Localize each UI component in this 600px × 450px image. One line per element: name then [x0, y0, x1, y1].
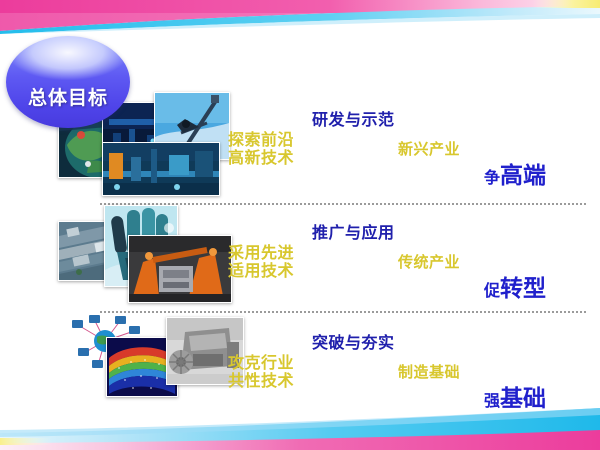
industrial-platform-photo-graphic — [103, 143, 219, 195]
goal-label-pair-row-2: 攻克行业 共性技术 — [228, 355, 294, 391]
overall-goal-badge-label: 总体目标 — [28, 83, 108, 128]
goal-label-line2: 适用技术 — [228, 263, 294, 281]
slide-canvas: 总体目标 — [0, 0, 600, 450]
top-banner-graphic — [0, 0, 600, 34]
overall-goal-badge[interactable]: 总体目标 — [6, 36, 130, 128]
top-banner — [0, 0, 600, 34]
headline-main-row-1: 转型 — [500, 275, 546, 301]
goal-label-pair-row-0: 探索前沿 高新技术 — [228, 132, 294, 168]
headline-row-0: 争高端 — [484, 164, 546, 187]
stage-label-row-1: 推广与应用 — [312, 219, 395, 243]
goal-label-line2: 高新技术 — [228, 150, 294, 168]
goal-label-pair-row-1: 采用先进 适用技术 — [228, 245, 294, 281]
goal-label-line1: 采用先进 — [228, 245, 294, 263]
photo-cluster-row-2 — [58, 315, 238, 420]
stage-label-row-2: 突破与夯实 — [312, 329, 395, 353]
headline-prefix-row-2: 强 — [484, 393, 500, 410]
headline-prefix-row-1: 促 — [484, 283, 500, 300]
goal-row-foundation: 攻克行业 共性技术 突破与夯实 制造基础 强基础 — [0, 315, 600, 425]
headline-main-row-0: 高端 — [500, 162, 546, 188]
stage-label-row-0: 研发与示范 — [312, 106, 395, 130]
headline-row-1: 促转型 — [484, 277, 546, 300]
industrial-platform-photo — [102, 142, 220, 196]
robot-assembly-line-photo-graphic — [129, 236, 231, 302]
goal-label-line1: 攻克行业 — [228, 355, 294, 373]
goal-label-line2: 共性技术 — [228, 373, 294, 391]
industry-label-row-1: 传统产业 — [398, 251, 460, 272]
headline-row-2: 强基础 — [484, 387, 546, 410]
industry-label-row-0: 新兴产业 — [398, 138, 460, 159]
goal-row-transform: 采用先进 适用技术 推广与应用 传统产业 促转型 — [0, 205, 600, 315]
robot-assembly-line-photo — [128, 235, 232, 303]
headline-prefix-row-0: 争 — [484, 170, 500, 187]
industry-label-row-2: 制造基础 — [398, 361, 460, 382]
goal-label-line1: 探索前沿 — [228, 132, 294, 150]
headline-main-row-2: 基础 — [500, 385, 546, 411]
photo-cluster-row-1 — [58, 205, 238, 310]
